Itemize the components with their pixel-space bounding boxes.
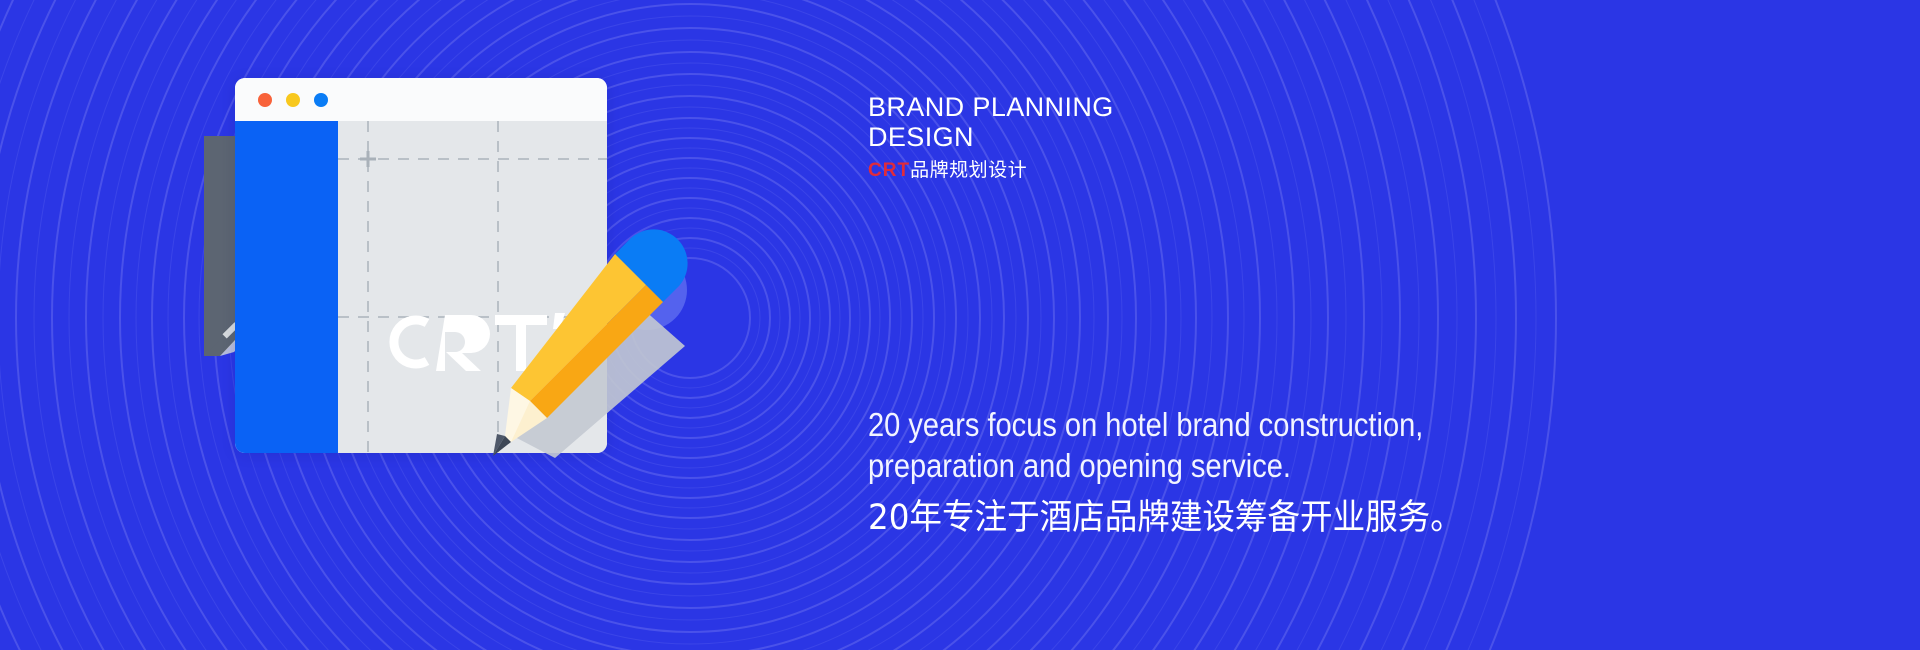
heading-chinese-text: 品牌规划设计 [910,159,1027,181]
design-illustration [190,78,830,558]
pencil-icon [485,228,705,458]
window-sidebar-panel [235,121,338,453]
minimize-dot-icon[interactable] [286,93,300,107]
tagline-chinese: 20年专注于酒店品牌建设筹备开业服务。 [868,496,1705,540]
tagline-block: 20 years focus on hotel brand constructi… [868,404,1768,540]
brand-banner: BRAND PLANNING DESIGN CRT品牌规划设计 20 years… [0,0,1920,650]
heading-chinese: CRT品牌规划设计 [868,159,1508,182]
maximize-dot-icon[interactable] [314,93,328,107]
window-titlebar [235,78,607,121]
heading-english: BRAND PLANNING DESIGN [868,92,1508,152]
close-dot-icon[interactable] [258,93,272,107]
tagline-english: 20 years focus on hotel brand constructi… [868,404,1660,486]
heading-accent-crt: CRT [868,160,910,181]
heading-block: BRAND PLANNING DESIGN CRT品牌规划设计 [868,92,1508,182]
